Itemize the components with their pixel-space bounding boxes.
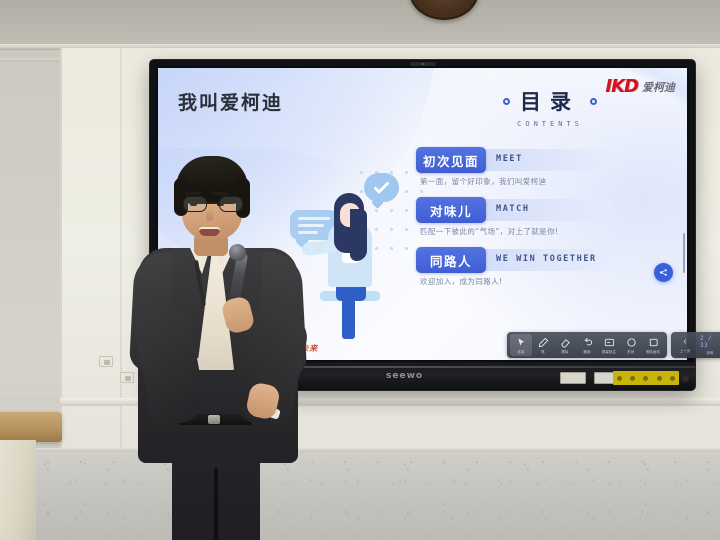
pen-icon bbox=[538, 337, 549, 348]
tool-screenshot-label: 屏幕批注 bbox=[602, 349, 616, 354]
bezel-button[interactable] bbox=[670, 376, 675, 381]
decor-dot-left bbox=[503, 98, 510, 105]
menu-chip-label: 初次见面 bbox=[416, 147, 486, 173]
ir-receiver-icon bbox=[682, 375, 689, 382]
tool-undo-label: 撤销 bbox=[583, 349, 590, 354]
menu-description: 第一面，留个好印象，我们叫爱柯迪 bbox=[420, 176, 684, 187]
floor-texture bbox=[0, 452, 720, 540]
bezel-button[interactable] bbox=[617, 376, 622, 381]
page-prev-button[interactable]: ‹ 上一页 bbox=[674, 334, 696, 356]
glasses-bridge bbox=[207, 202, 219, 204]
menu-en-label: MATCH bbox=[496, 204, 530, 214]
clear-canvas-icon bbox=[648, 337, 659, 348]
panel-seam bbox=[120, 48, 122, 448]
page-indicator[interactable]: 2 / 33 页码 bbox=[696, 334, 720, 356]
menu-entry-2[interactable]: 对味儿 MATCH 匹配一下彼此的“气场”，对上了就是你! bbox=[416, 199, 684, 237]
bezel-button[interactable] bbox=[643, 376, 648, 381]
contents-subheading: CONTENTS bbox=[416, 120, 684, 128]
presenter-glasses bbox=[182, 196, 244, 212]
contents-header: 目录 CONTENTS bbox=[416, 86, 684, 128]
menu-description: 欢迎加入，成为同路人! bbox=[420, 276, 684, 287]
bezel-button[interactable] bbox=[657, 376, 662, 381]
wall-socket-2 bbox=[99, 356, 113, 367]
bezel-sticker-1 bbox=[560, 372, 586, 384]
wall-upper bbox=[0, 0, 720, 46]
tool-clear-button[interactable]: 清除画布 bbox=[642, 334, 664, 356]
slide-title: 我叫爱柯迪 bbox=[178, 88, 283, 115]
menu-en-label: MEET bbox=[496, 154, 523, 164]
menu-en-label: WE WIN TOGETHER bbox=[496, 254, 597, 264]
toolbar-tools-group: 选择 笔 擦除 bbox=[507, 332, 667, 358]
tool-screenshot-button[interactable]: 屏幕批注 bbox=[598, 334, 620, 356]
bezel-button-row[interactable] bbox=[613, 371, 679, 385]
check-icon bbox=[373, 178, 389, 194]
menu-entry-1[interactable]: 初次见面 MEET 第一面，留个好印象，我们叫爱柯迪 bbox=[416, 149, 684, 187]
presenter bbox=[128, 148, 318, 540]
tool-eraser-label: 擦除 bbox=[561, 349, 568, 354]
toolbar-page-nav-group: ‹ 上一页 2 / 33 页码 › 下一页 bbox=[671, 332, 720, 358]
presenter-nose bbox=[206, 210, 213, 221]
undo-icon bbox=[582, 337, 593, 348]
share-icon bbox=[658, 267, 669, 278]
bezel-button[interactable] bbox=[630, 376, 635, 381]
floating-action-button[interactable] bbox=[654, 263, 673, 282]
presenter-belt-buckle bbox=[208, 415, 220, 424]
contents-block: 目录 CONTENTS 初次见面 MEET 第一面，留个好印象，我们叫爱柯迪 bbox=[416, 86, 684, 299]
illustration-legs bbox=[342, 299, 355, 339]
tool-shape-label: 形状 bbox=[627, 349, 634, 354]
menu-entry-3[interactable]: 同路人 WE WIN TOGETHER 欢迎加入，成为同路人! bbox=[416, 249, 684, 287]
podium-body bbox=[0, 440, 36, 540]
screenshot-icon bbox=[604, 337, 615, 348]
menu-chip-label: 同路人 bbox=[416, 247, 486, 273]
circle-shape-icon bbox=[626, 337, 637, 348]
tool-clear-label: 清除画布 bbox=[646, 349, 660, 354]
eraser-icon bbox=[560, 337, 571, 348]
podium-top bbox=[0, 412, 62, 442]
illustration-hair-side bbox=[350, 209, 367, 261]
decor-dot-right bbox=[590, 98, 597, 105]
glasses-lens-left bbox=[183, 196, 207, 212]
tool-undo-button[interactable]: 撤销 bbox=[576, 334, 598, 356]
tool-eraser-button[interactable]: 擦除 bbox=[554, 334, 576, 356]
contents-heading: 目录 bbox=[520, 86, 580, 116]
page-indicator-label: 页码 bbox=[706, 350, 713, 355]
menu-description: 匹配一下彼此的“气场”，对上了就是你! bbox=[420, 226, 684, 237]
wall-texture bbox=[0, 0, 720, 46]
floor bbox=[0, 452, 720, 540]
glasses-lens-right bbox=[219, 196, 243, 212]
cursor-icon bbox=[516, 337, 527, 348]
presenter-mouth bbox=[199, 227, 220, 236]
page-prev-label: 上一页 bbox=[680, 348, 691, 353]
tool-select-label: 选择 bbox=[517, 349, 524, 354]
seewo-brand-logo: seewo bbox=[386, 371, 423, 381]
classroom-scene: 我叫爱柯迪 FI IKD 爱柯迪 bbox=[0, 0, 720, 540]
tool-shape-button[interactable]: 形状 bbox=[620, 334, 642, 356]
slide-scrollbar[interactable] bbox=[683, 233, 685, 273]
menu-chip-label: 对味儿 bbox=[416, 197, 486, 223]
tool-pen-label: 笔 bbox=[541, 349, 545, 354]
tool-select-button[interactable]: 选择 bbox=[510, 334, 532, 356]
page-indicator-value: 2 / 33 bbox=[696, 335, 720, 349]
check-bubble-icon bbox=[364, 173, 399, 202]
chevron-left-icon: ‹ bbox=[683, 337, 686, 347]
tool-pen-button[interactable]: 笔 bbox=[532, 334, 554, 356]
annotation-toolbar[interactable]: 选择 笔 擦除 bbox=[507, 332, 720, 358]
trouser-seam bbox=[214, 468, 218, 540]
contents-menu: 初次见面 MEET 第一面，留个好印象，我们叫爱柯迪 对味儿 MATCH 匹配一… bbox=[416, 149, 684, 287]
